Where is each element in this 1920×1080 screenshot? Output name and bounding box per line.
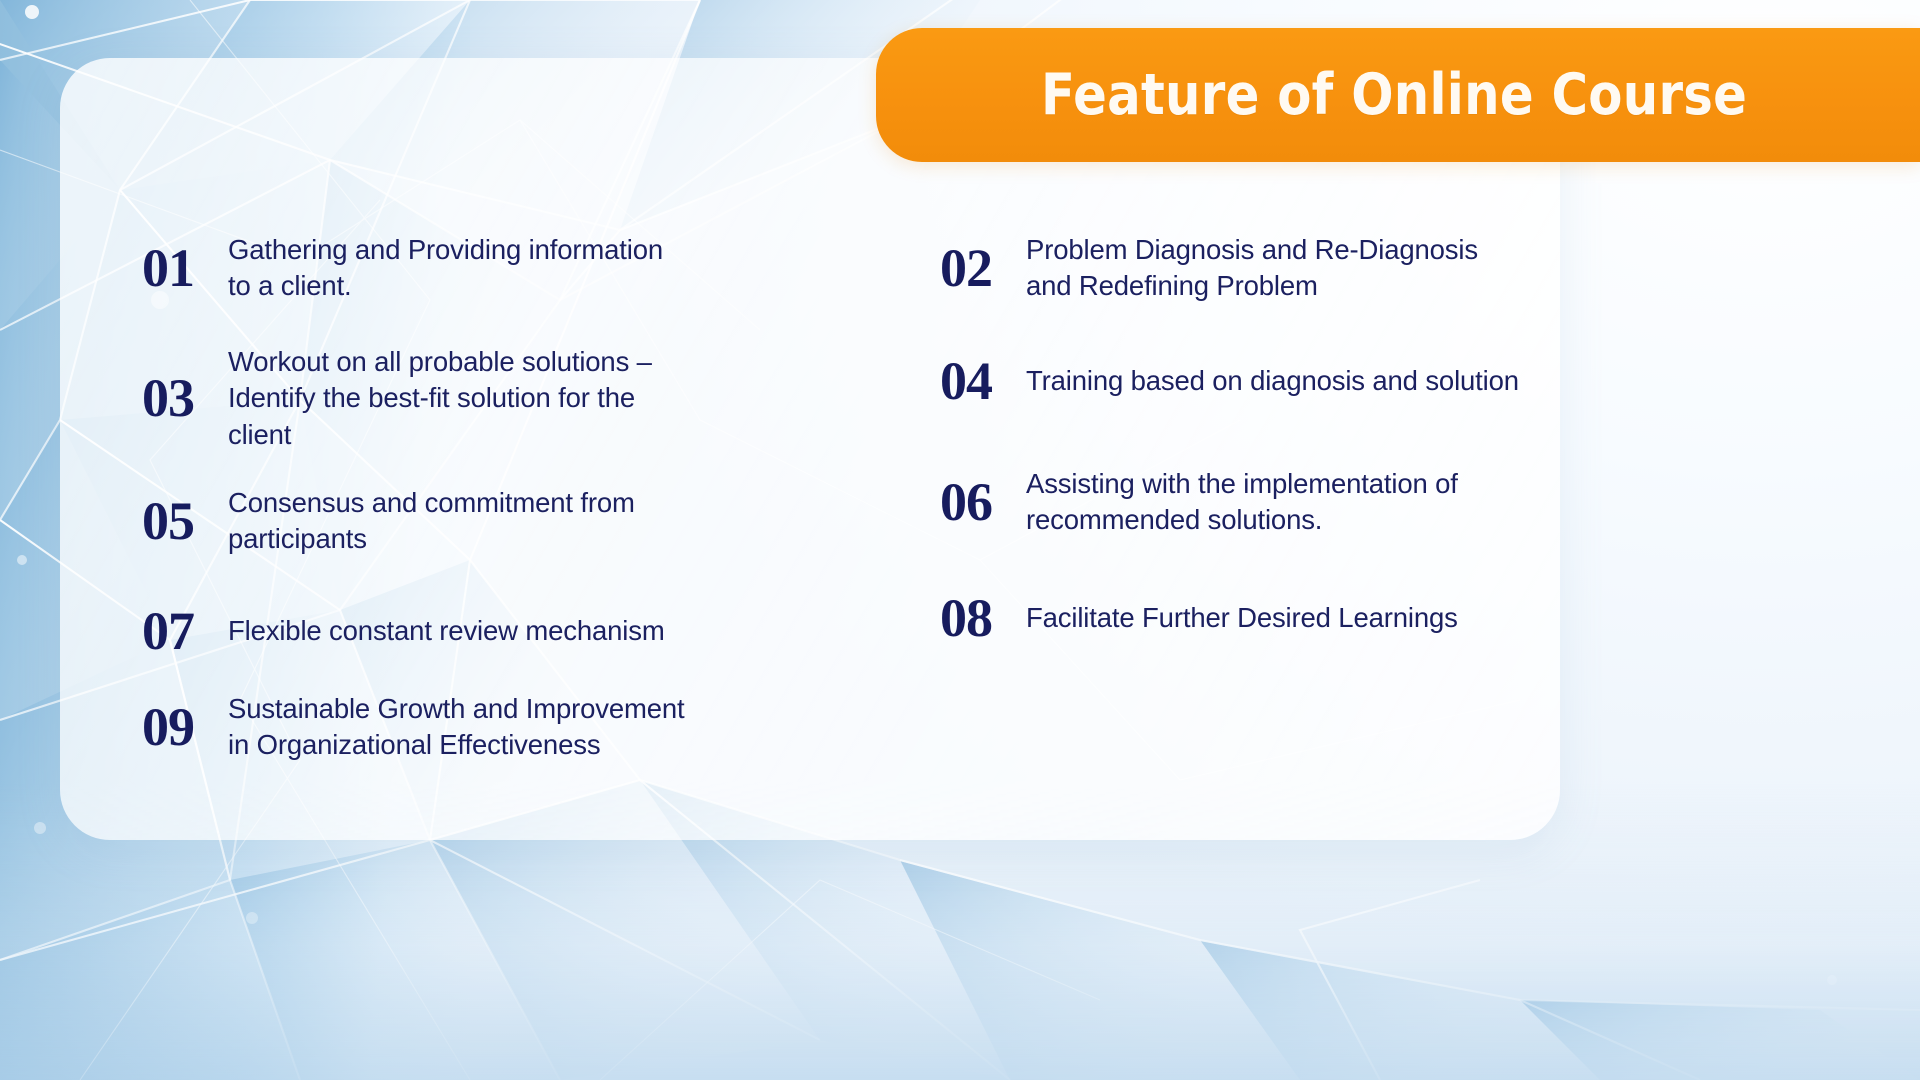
feature-text-line: recommended solutions. — [1026, 502, 1458, 538]
feature-number-06: 06 — [920, 475, 1012, 529]
feature-text-line: client — [228, 417, 652, 453]
feature-text-line: Identify the best-fit solution for the — [228, 380, 652, 416]
feature-number-07: 07 — [122, 604, 214, 658]
feature-item-05: 05 Consensus and commitment from partici… — [122, 485, 635, 558]
feature-number-01: 01 — [122, 241, 214, 295]
feature-text-03: Workout on all probable solutions – Iden… — [228, 344, 652, 453]
feature-text-line: participants — [228, 521, 635, 557]
feature-text-line: Assisting with the implementation of — [1026, 466, 1458, 502]
feature-number-03: 03 — [122, 371, 214, 425]
feature-item-06: 06 Assisting with the implementation of … — [920, 466, 1458, 539]
feature-text-01: Gathering and Providing information to a… — [228, 232, 663, 305]
feature-item-01: 01 Gathering and Providing information t… — [122, 232, 663, 305]
slide-canvas: Feature of Online Course 01 Gathering an… — [0, 0, 1920, 1080]
feature-text-line: to a client. — [228, 268, 663, 304]
feature-text-05: Consensus and commitment from participan… — [228, 485, 635, 558]
feature-text-02: Problem Diagnosis and Re-Diagnosis and R… — [1026, 232, 1478, 305]
feature-item-09: 09 Sustainable Growth and Improvement in… — [122, 691, 685, 764]
feature-text-line: Sustainable Growth and Improvement — [228, 691, 685, 727]
feature-item-08: 08 Facilitate Further Desired Learnings — [920, 591, 1458, 645]
feature-text-line: and Redefining Problem — [1026, 268, 1478, 304]
feature-item-04: 04 Training based on diagnosis and solut… — [920, 354, 1519, 408]
feature-number-02: 02 — [920, 241, 1012, 295]
feature-item-02: 02 Problem Diagnosis and Re-Diagnosis an… — [920, 232, 1478, 305]
feature-text-line: Problem Diagnosis and Re-Diagnosis — [1026, 232, 1478, 268]
features-column-left: 01 Gathering and Providing information t… — [122, 58, 842, 840]
feature-number-04: 04 — [920, 354, 1012, 408]
feature-item-07: 07 Flexible constant review mechanism — [122, 604, 665, 658]
feature-text-04: Training based on diagnosis and solution — [1026, 363, 1519, 399]
feature-number-08: 08 — [920, 591, 1012, 645]
feature-text-09: Sustainable Growth and Improvement in Or… — [228, 691, 685, 764]
feature-text-06: Assisting with the implementation of rec… — [1026, 466, 1458, 539]
feature-number-05: 05 — [122, 494, 214, 548]
feature-text-line: Gathering and Providing information — [228, 232, 663, 268]
features-grid: 01 Gathering and Providing information t… — [60, 58, 1560, 840]
feature-number-09: 09 — [122, 700, 214, 754]
feature-item-03: 03 Workout on all probable solutions – I… — [122, 344, 652, 453]
feature-text-line: Consensus and commitment from — [228, 485, 635, 521]
feature-text-line: Workout on all probable solutions – — [228, 344, 652, 380]
feature-text-08: Facilitate Further Desired Learnings — [1026, 600, 1458, 636]
feature-text-line: Flexible constant review mechanism — [228, 613, 665, 649]
feature-text-line: Facilitate Further Desired Learnings — [1026, 600, 1458, 636]
feature-text-line: Training based on diagnosis and solution — [1026, 363, 1519, 399]
features-column-right: 02 Problem Diagnosis and Re-Diagnosis an… — [920, 58, 1560, 840]
feature-text-07: Flexible constant review mechanism — [228, 613, 665, 649]
feature-text-line: in Organizational Effectiveness — [228, 727, 685, 763]
